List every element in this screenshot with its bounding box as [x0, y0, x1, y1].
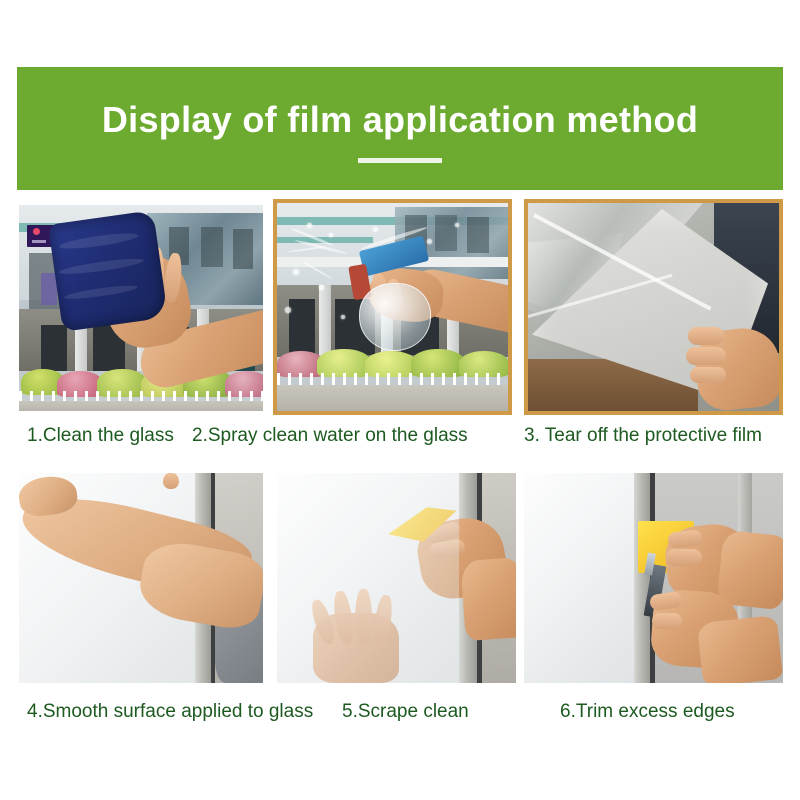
steps-grid: 1.Clean the glass	[0, 0, 800, 800]
film-frost-overlay	[277, 473, 459, 683]
step-caption-4: 4.Smooth surface applied to glass	[27, 700, 313, 724]
step-caption-3: 3. Tear off the protective film	[524, 424, 762, 448]
step-card-6[interactable]	[524, 473, 783, 683]
step-photo-1[interactable]	[19, 205, 263, 411]
step-caption-1: 1.Clean the glass	[27, 424, 174, 448]
frosted-glass-panel	[524, 473, 646, 683]
water-droplet	[285, 307, 291, 313]
water-droplet	[373, 227, 378, 232]
water-droplet	[319, 285, 324, 290]
window-pane	[467, 217, 489, 253]
pillar	[319, 285, 331, 357]
doorway	[289, 299, 315, 355]
spray-bottle-body	[359, 283, 431, 351]
step-card-2[interactable]	[273, 199, 512, 415]
scene-clean-the-glass	[19, 205, 263, 411]
step-card-4[interactable]	[19, 473, 263, 683]
step-photo-3[interactable]	[524, 199, 783, 415]
step-caption-5: 5.Scrape clean	[342, 700, 469, 724]
window-pane	[233, 229, 253, 269]
scene-tear-off-protective-film	[528, 203, 779, 411]
window-pane	[435, 215, 457, 251]
forearm-upper	[460, 557, 516, 641]
cloth-fold	[58, 256, 144, 277]
blue-cleaning-cloth	[48, 210, 168, 332]
sign-text-line	[32, 240, 46, 243]
step-photo-2[interactable]	[273, 199, 512, 415]
step-photo-5[interactable]	[277, 473, 516, 683]
finger	[688, 327, 724, 345]
sign-light	[33, 228, 40, 235]
pavement	[19, 401, 263, 411]
water-droplet	[427, 239, 432, 244]
finger	[686, 347, 726, 365]
window-pane	[201, 227, 223, 267]
step-card-1[interactable]	[19, 205, 263, 411]
scene-trim-excess-edges	[524, 473, 783, 683]
step-caption-6: 6.Trim excess edges	[560, 700, 735, 724]
fingertip	[163, 473, 179, 489]
pavement	[277, 385, 508, 411]
finger	[652, 613, 682, 629]
window-frame-vertical	[634, 473, 650, 683]
finger	[690, 367, 726, 383]
step-caption-2: 2.Spray clean water on the glass	[192, 424, 468, 448]
scene-scrape-clean	[277, 473, 516, 683]
water-droplet	[307, 223, 312, 228]
step-photo-6[interactable]	[524, 473, 783, 683]
scene-spray-clean-water	[277, 203, 508, 411]
water-droplet	[293, 269, 299, 275]
doorway	[41, 325, 67, 371]
water-droplet	[329, 233, 333, 237]
water-droplet	[341, 315, 345, 319]
scene-smooth-surface-applied	[19, 473, 263, 683]
finger	[666, 549, 702, 566]
forearm-lower	[697, 615, 783, 683]
step-card-3[interactable]	[524, 199, 783, 415]
step-photo-4[interactable]	[19, 473, 263, 683]
cloth-fold	[58, 230, 139, 251]
cloth-fold	[64, 283, 138, 301]
water-droplet	[455, 223, 459, 227]
step-card-5[interactable]	[277, 473, 516, 683]
